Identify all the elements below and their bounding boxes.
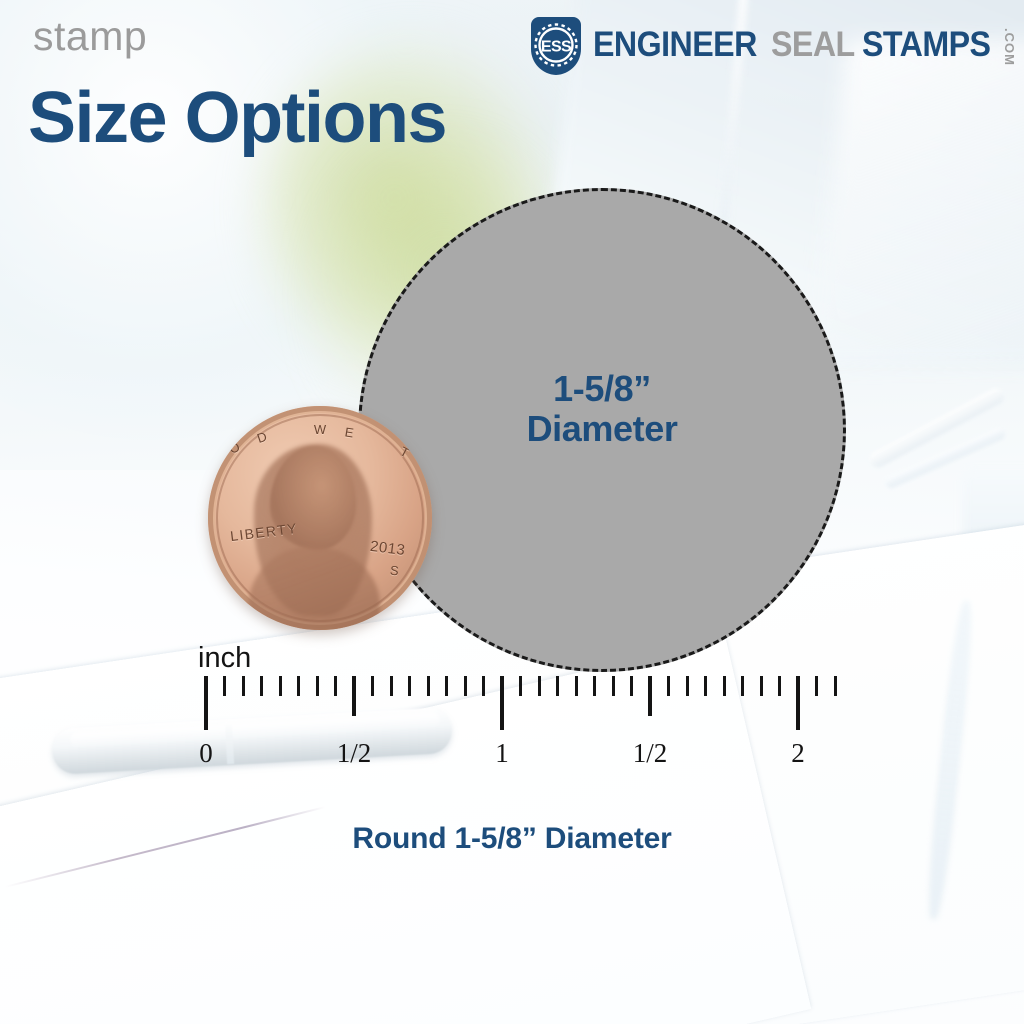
ruler: 01/211/22 [0, 0, 1024, 1024]
ruler-tick-minor [445, 676, 448, 696]
ruler-tick-minor [593, 676, 596, 696]
ruler-tick-minor [630, 676, 633, 696]
ruler-tick-minor [778, 676, 781, 696]
ruler-tick-minor [297, 676, 300, 696]
ruler-tick-minor [334, 676, 337, 696]
ruler-label: 1/2 [633, 738, 668, 769]
ruler-label: 0 [199, 738, 213, 769]
ruler-label: 1 [495, 738, 509, 769]
ruler-tick-minor [316, 676, 319, 696]
ruler-tick-half [352, 676, 356, 716]
ruler-tick-minor [464, 676, 467, 696]
stamp-caption: Round 1-5/8” Diameter [0, 822, 1024, 856]
ruler-tick-major [204, 676, 208, 730]
ruler-tick-minor [223, 676, 226, 696]
ruler-tick-minor [242, 676, 245, 696]
ruler-tick-major [500, 676, 504, 730]
ruler-tick-minor [408, 676, 411, 696]
ruler-tick-minor [371, 676, 374, 696]
ruler-tick-minor [427, 676, 430, 696]
ruler-tick-minor [815, 676, 818, 696]
ruler-label: 2 [791, 738, 805, 769]
ruler-tick-minor [612, 676, 615, 696]
ruler-tick-half [648, 676, 652, 716]
ruler-tick-minor [704, 676, 707, 696]
ruler-tick-minor [575, 676, 578, 696]
ruler-tick-minor [667, 676, 670, 696]
ruler-tick-minor [686, 676, 689, 696]
ruler-tick-minor [556, 676, 559, 696]
ruler-tick-minor [538, 676, 541, 696]
ruler-tick-minor [390, 676, 393, 696]
ruler-tick-minor [760, 676, 763, 696]
ruler-tick-major [796, 676, 800, 730]
ruler-tick-minor [723, 676, 726, 696]
ruler-label: 1/2 [337, 738, 372, 769]
ruler-tick-minor [260, 676, 263, 696]
ruler-tick-minor [741, 676, 744, 696]
ruler-tick-minor [834, 676, 837, 696]
stamp-size-options-graphic: stamp Size Options ESS ENGINEER SEAL STA… [0, 0, 1024, 1024]
ruler-tick-minor [279, 676, 282, 696]
ruler-tick-minor [519, 676, 522, 696]
ruler-tick-minor [482, 676, 485, 696]
